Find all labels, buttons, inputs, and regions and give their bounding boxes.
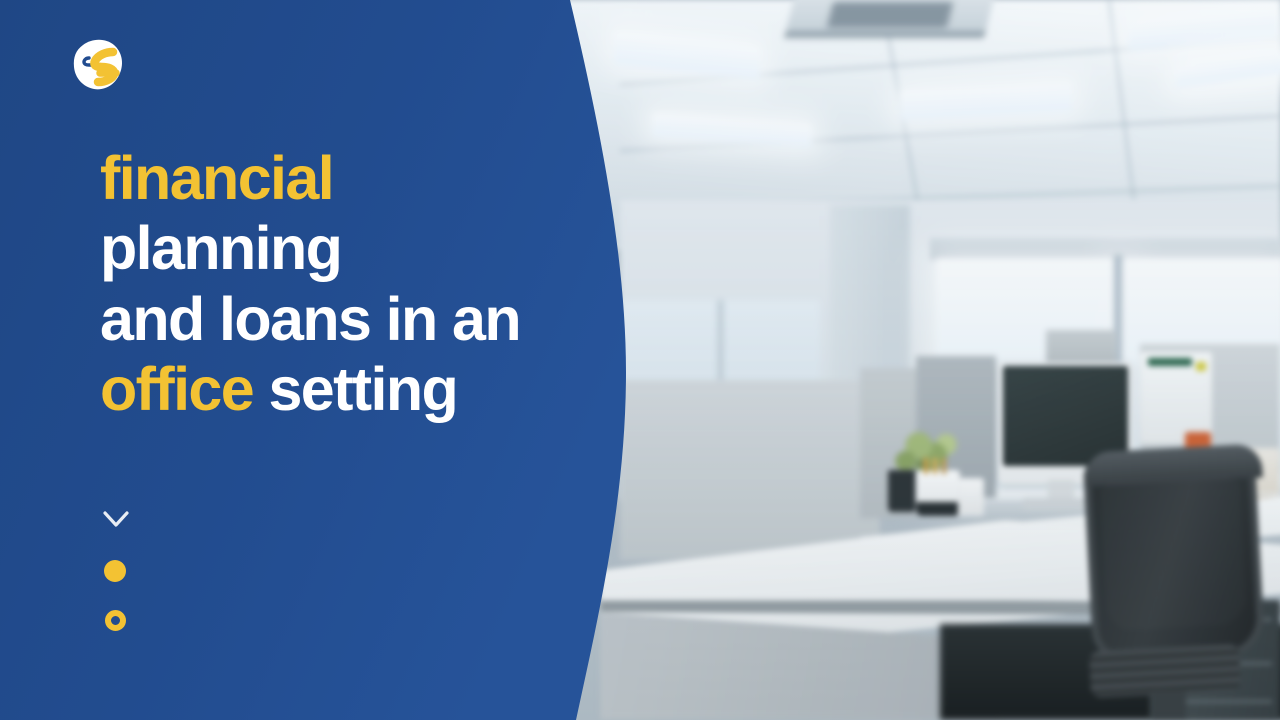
headline-line-2: planning — [100, 213, 620, 283]
brand-logo[interactable] — [70, 36, 132, 96]
headline-highlight-word: office — [100, 355, 253, 423]
chevron-down-icon[interactable] — [103, 510, 129, 530]
page-title: financial planning and loans in an offic… — [100, 143, 620, 425]
headline-line-1: financial — [100, 143, 620, 213]
headline-line-3: and loans in an — [100, 284, 620, 354]
ring-circle-icon[interactable] — [105, 610, 126, 631]
filled-circle-icon[interactable] — [104, 560, 126, 582]
panel-content: financial planning and loans in an offic… — [0, 0, 620, 720]
headline-line-4-rest: setting — [253, 355, 457, 423]
slide-canvas: financial planning and loans in an offic… — [0, 0, 1280, 720]
headline-line-4: office setting — [100, 354, 620, 424]
